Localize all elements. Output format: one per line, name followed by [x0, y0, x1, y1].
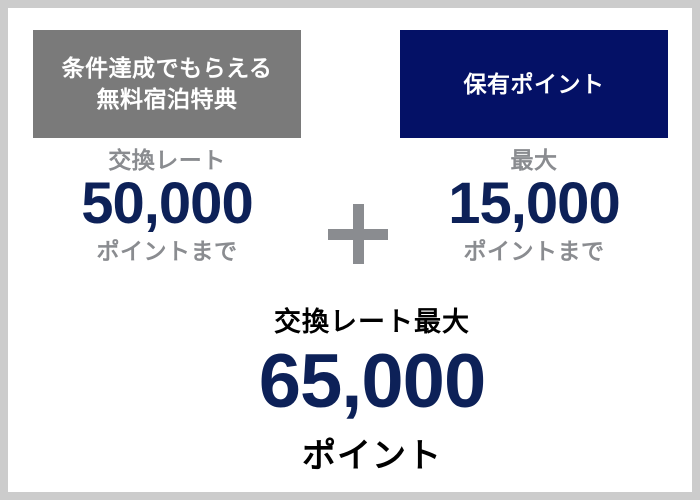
panel-free-night-award: 条件達成でもらえる 無料宿泊特典 交換レート 50,000 ポイントまで	[33, 30, 301, 265]
info-card: 条件達成でもらえる 無料宿泊特典 交換レート 50,000 ポイントまで 保有ポ…	[8, 8, 692, 492]
panel-unit: ポイントまで	[33, 239, 301, 264]
badge-line-2: 無料宿泊特典	[97, 84, 238, 115]
total-amount: 65,000	[8, 344, 692, 420]
panel-amount: 50,000	[33, 175, 301, 233]
panel-badge-navy: 保有ポイント	[400, 30, 668, 138]
plus-vertical-bar	[353, 204, 364, 264]
badge-line-1: 保有ポイント	[464, 69, 605, 100]
plus-icon	[328, 204, 388, 264]
badge-line-1: 条件達成でもらえる	[62, 53, 273, 84]
panel-caption: 交換レート	[33, 148, 301, 173]
panel-amount: 15,000	[400, 175, 668, 233]
comparison-row: 条件達成でもらえる 無料宿泊特典 交換レート 50,000 ポイントまで 保有ポ…	[8, 8, 692, 276]
panel-caption: 最大	[400, 148, 668, 173]
panel-unit: ポイントまで	[400, 239, 668, 264]
total-unit: ポイント	[8, 428, 692, 477]
panel-badge-gray: 条件達成でもらえる 無料宿泊特典	[33, 30, 301, 138]
total-label: 交換レート最大	[8, 300, 692, 339]
total-row: 交換レート最大 65,000 ポイント	[8, 290, 692, 490]
panel-owned-points: 保有ポイント 最大 15,000 ポイントまで	[400, 30, 668, 265]
